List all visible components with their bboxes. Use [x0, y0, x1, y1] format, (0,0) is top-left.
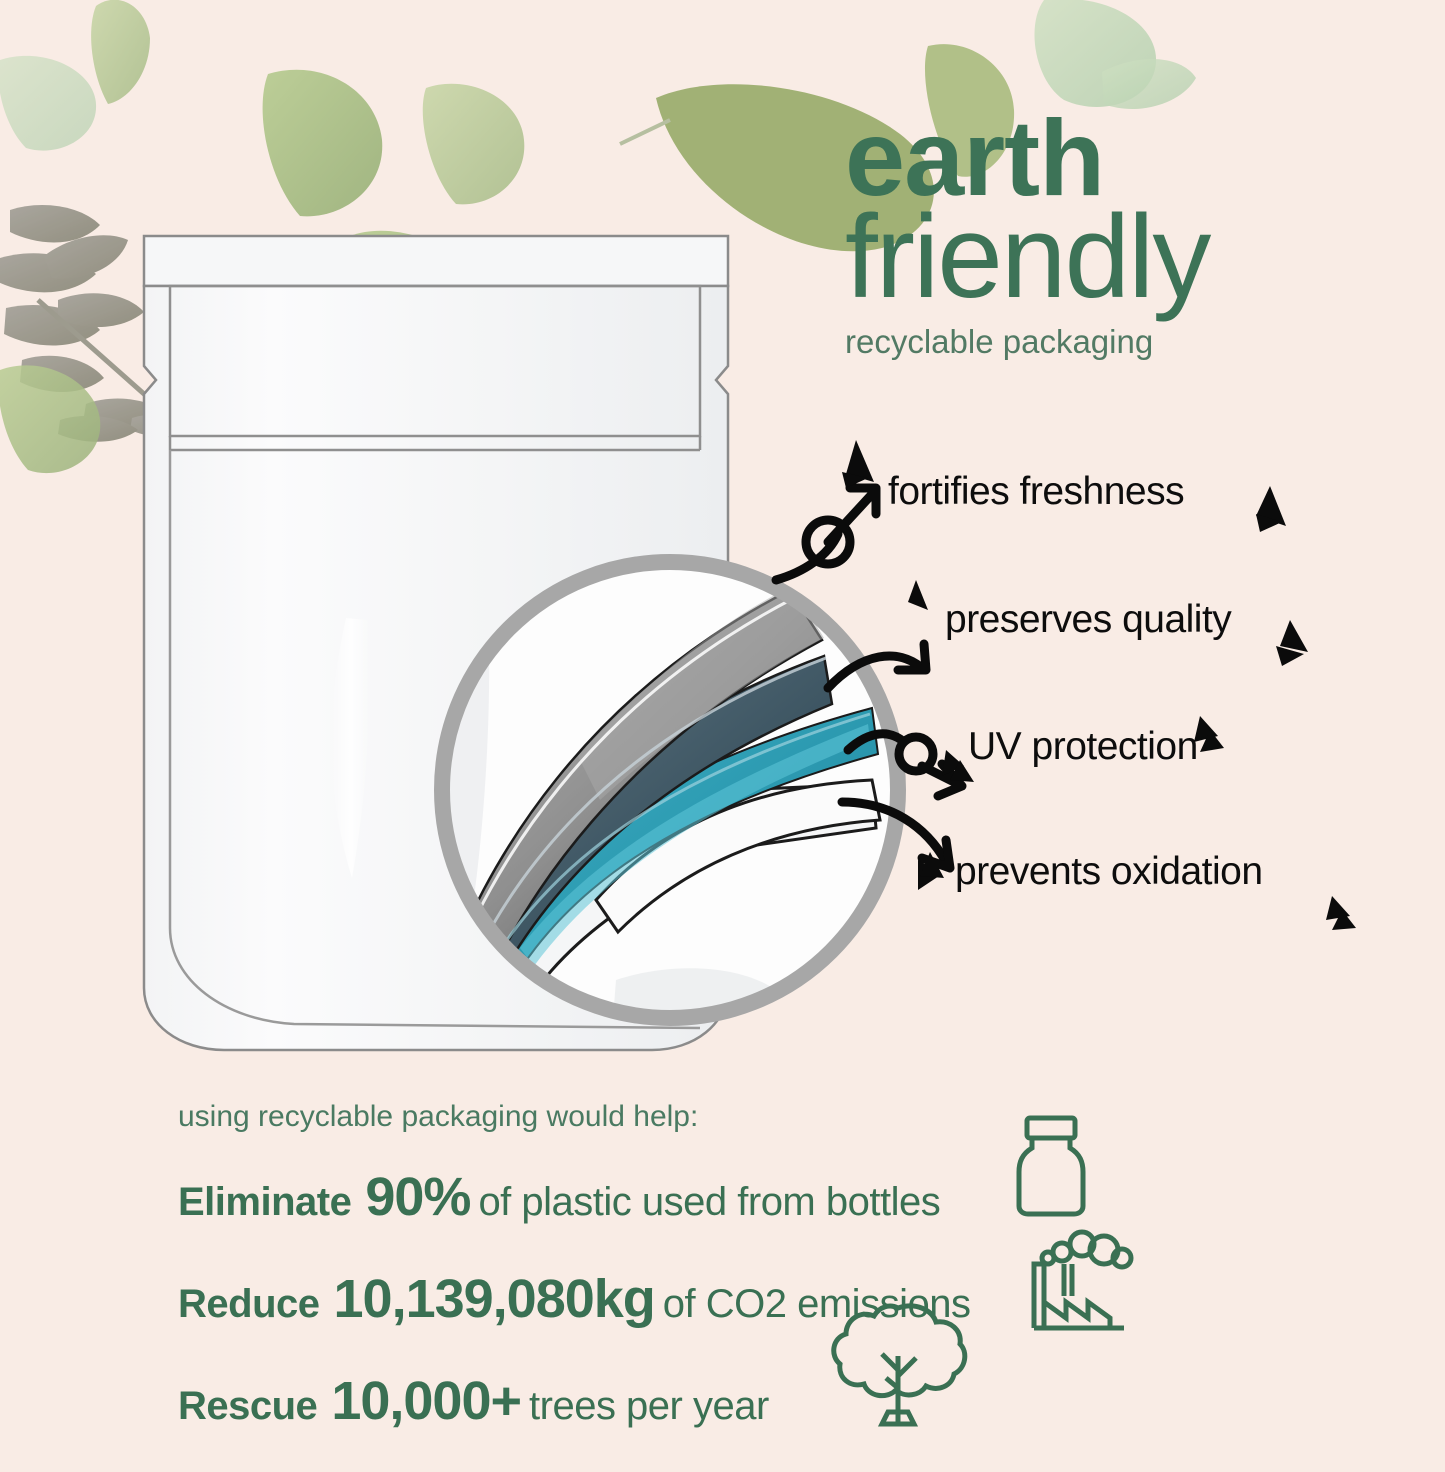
stat-verb-0: Eliminate [178, 1180, 351, 1225]
factory-icon [1026, 1226, 1136, 1334]
feature-label-2: UV protection [968, 725, 1198, 769]
headline-line-2: friendly [845, 201, 1405, 313]
arrow-curve-4 [842, 802, 946, 862]
headline-block: earth friendly recyclable packaging [845, 108, 1405, 361]
arrow-head-4 [922, 840, 950, 868]
pouch-top-flap [144, 236, 728, 286]
arrow-head-1 [850, 488, 876, 514]
feature-callouts: fortifies freshness preserves quality UV… [770, 430, 1430, 950]
tree-icon [828, 1296, 968, 1436]
stat-tail-0: of plastic used from bottles [478, 1180, 940, 1225]
stat-number-2: 10,000+ [331, 1370, 521, 1432]
arrow-curve-2 [828, 656, 922, 688]
arrow-head-3 [938, 764, 962, 796]
arrow-loop-3 [848, 734, 904, 750]
feature-label-3: prevents oxidation [955, 850, 1263, 894]
stat-number-1: 10,139,080kg [334, 1268, 655, 1330]
stats-lead: using recyclable packaging would help: [178, 1100, 1278, 1134]
stat-number-0: 90% [365, 1166, 470, 1228]
arrow-loop-1 [776, 534, 838, 580]
feature-label-1: preserves quality [945, 598, 1231, 642]
arrow-head-2 [898, 644, 926, 670]
bottle-icon [1008, 1114, 1094, 1218]
stat-verb-2: Rescue [178, 1384, 317, 1429]
stat-verb-1: Reduce [178, 1282, 320, 1327]
arrow-loop-3-ring [899, 737, 933, 771]
stat-row-0: Eliminate 90% of plastic used from bottl… [178, 1166, 1278, 1228]
infographic-canvas: earth friendly recyclable packaging [0, 0, 1445, 1446]
arrow-shaft-3 [922, 766, 958, 784]
arrow-loop-1-ring [806, 520, 850, 564]
feature-label-0: fortifies freshness [888, 470, 1184, 514]
headline-subtitle: recyclable packaging [845, 323, 1405, 361]
stat-tail-2: trees per year [529, 1384, 769, 1429]
arrow-shaft-1 [828, 492, 874, 542]
stats-block: using recyclable packaging would help: E… [178, 1100, 1278, 1472]
stat-row-2: Rescue 10,000+ trees per year [178, 1370, 1278, 1432]
